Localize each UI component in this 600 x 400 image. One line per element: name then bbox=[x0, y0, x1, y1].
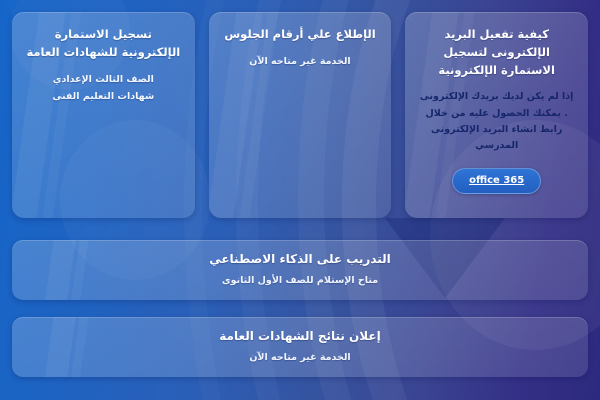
card-certificate-registration[interactable]: تسجيل الاستمارة الإلكترونية للشهادات الع… bbox=[12, 12, 195, 218]
banner-streak bbox=[40, 240, 77, 300]
banner-streak bbox=[66, 240, 90, 300]
card-body-text: إذا لم يكن لديك بريدك الإلكترونى . يمكنك… bbox=[417, 89, 576, 154]
card-status-text: الخدمة غير متاحه الآن bbox=[221, 54, 380, 71]
card-title: كيفية تفعيل البريد الإلكترونى لتسجيل الا… bbox=[417, 26, 576, 79]
banner-subtitle: الخدمة غير متاحه الآن bbox=[12, 352, 588, 363]
banner-ai-training[interactable]: التدريب على الذكاء الاصطناعي متاح الإستل… bbox=[12, 240, 588, 300]
card-seat-numbers[interactable]: الإطلاع علي أرقام الجلوس الخدمة غير متاح… bbox=[209, 12, 392, 218]
banner-title: التدريب على الذكاء الاصطناعي bbox=[12, 252, 588, 266]
services-portal-screen: كيفية تفعيل البريد الإلكترونى لتسجيل الا… bbox=[0, 0, 600, 400]
banner-streak bbox=[40, 317, 77, 377]
service-cards-row: كيفية تفعيل البريد الإلكترونى لتسجيل الا… bbox=[12, 12, 588, 218]
card-email-activation[interactable]: كيفية تفعيل البريد الإلكترونى لتسجيل الا… bbox=[405, 12, 588, 218]
banner-streak bbox=[66, 317, 90, 377]
banner-subtitle: متاح الإستلام للصف الأول الثانوى bbox=[12, 275, 588, 286]
card-subtitle-technical: شهادات التعليم الفنى bbox=[24, 89, 183, 106]
card-title: تسجيل الاستمارة الإلكترونية للشهادات الع… bbox=[24, 26, 183, 62]
card-subtitle-grade: الصف الثالث الإعدادي bbox=[24, 72, 183, 89]
banner-results-announcement[interactable]: إعلان نتائج الشهادات العامة الخدمة غير م… bbox=[12, 317, 588, 377]
banner-title: إعلان نتائج الشهادات العامة bbox=[12, 329, 588, 343]
office-365-button[interactable]: office 365 bbox=[452, 168, 541, 194]
card-title: الإطلاع علي أرقام الجلوس bbox=[221, 26, 380, 44]
